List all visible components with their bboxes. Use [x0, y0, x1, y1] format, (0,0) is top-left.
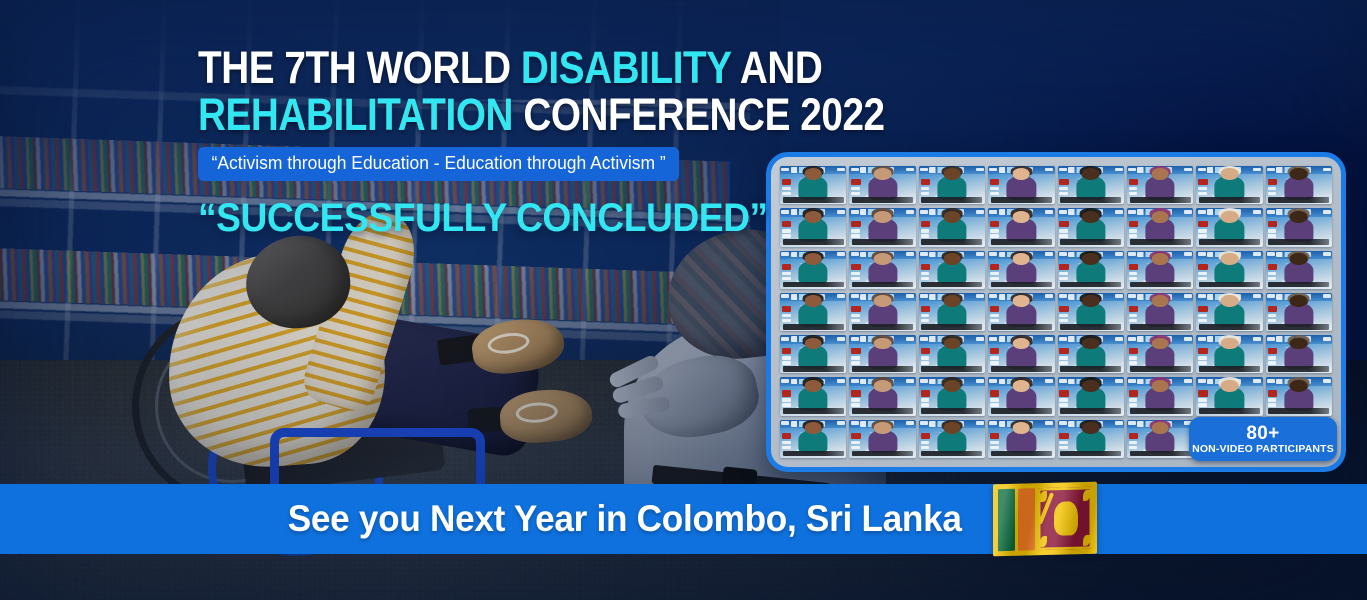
- camera-off-icon[interactable]: [1268, 264, 1277, 270]
- tile-control-icon[interactable]: [851, 272, 860, 275]
- tile-control-icon[interactable]: [1198, 272, 1207, 275]
- participant-tile[interactable]: [1127, 293, 1193, 331]
- participant-face: [1013, 253, 1031, 265]
- tile-badge-left: [1267, 379, 1275, 383]
- tile-control-icon[interactable]: [990, 272, 999, 275]
- participant-tile[interactable]: [988, 208, 1054, 246]
- tile-badge-right: [976, 379, 984, 383]
- tile-control-icon[interactable]: [1198, 234, 1207, 237]
- camera-off-icon[interactable]: [921, 390, 930, 396]
- tile-control-icon[interactable]: [1059, 441, 1068, 444]
- tile-control-icon[interactable]: [921, 314, 930, 317]
- tile-control-icon[interactable]: [1129, 314, 1138, 317]
- participant-face: [804, 295, 822, 307]
- flag-leaf: [1040, 536, 1047, 547]
- tile-control-icon[interactable]: [990, 319, 999, 322]
- tile-control-icon[interactable]: [921, 446, 930, 449]
- participant-face: [1082, 422, 1100, 434]
- participant-tile[interactable]: [919, 166, 985, 204]
- participant-face: [804, 168, 822, 180]
- participant-tile[interactable]: [988, 166, 1054, 204]
- participant-tile[interactable]: [919, 420, 985, 458]
- participant-avatar: [1215, 261, 1244, 285]
- participant-tile[interactable]: [1127, 208, 1193, 246]
- tile-badge-right: [1045, 421, 1053, 425]
- footer-banner: See you Next Year in Colombo, Sri Lanka: [0, 484, 1367, 554]
- tile-badge-left: [1059, 168, 1067, 172]
- camera-off-icon[interactable]: [1198, 264, 1207, 270]
- participant-tile[interactable]: [919, 335, 985, 373]
- participant-name-bar: [1199, 282, 1260, 288]
- participant-name-bar: [921, 366, 982, 372]
- tile-control-icon[interactable]: [1129, 229, 1138, 232]
- tile-control-icon[interactable]: [782, 446, 791, 449]
- camera-off-icon[interactable]: [1129, 221, 1138, 227]
- status-badge-concluded: “SUCCESSFULLY CONCLUDED”: [198, 197, 756, 239]
- camera-off-icon[interactable]: [782, 264, 791, 270]
- tile-control-icon[interactable]: [1268, 277, 1277, 280]
- participant-name-bar: [1130, 366, 1191, 372]
- tile-control-icon[interactable]: [921, 356, 930, 359]
- tile-control-icon[interactable]: [1059, 403, 1068, 406]
- participant-avatar: [1007, 261, 1036, 285]
- participant-tile[interactable]: [1058, 335, 1124, 373]
- tile-badge-left: [989, 294, 997, 298]
- participant-tile[interactable]: [1127, 335, 1193, 373]
- camera-off-icon[interactable]: [990, 306, 999, 312]
- camera-off-icon[interactable]: [1198, 221, 1207, 227]
- tile-badge-left: [851, 252, 859, 256]
- participant-tile[interactable]: [1196, 208, 1262, 246]
- participant-face: [1290, 168, 1308, 180]
- camera-off-icon[interactable]: [1268, 306, 1277, 312]
- camera-off-icon[interactable]: [1198, 306, 1207, 312]
- participant-name-bar: [991, 366, 1052, 372]
- tile-badge-right: [1323, 168, 1331, 172]
- tile-control-icon[interactable]: [921, 192, 930, 195]
- tile-control-icon[interactable]: [1059, 234, 1068, 237]
- participant-face: [874, 422, 892, 434]
- tile-control-icon[interactable]: [1129, 441, 1138, 444]
- tile-badge-left: [989, 379, 997, 383]
- tile-control-icon[interactable]: [782, 277, 791, 280]
- tile-badge-left: [851, 379, 859, 383]
- camera-off-icon[interactable]: [1198, 348, 1207, 354]
- tile-control-icon[interactable]: [851, 192, 860, 195]
- camera-off-icon[interactable]: [1059, 348, 1068, 354]
- camera-off-icon[interactable]: [851, 306, 860, 312]
- camera-off-icon[interactable]: [782, 390, 791, 396]
- participant-face: [1221, 168, 1239, 180]
- camera-off-icon[interactable]: [990, 433, 999, 439]
- participant-face: [804, 253, 822, 265]
- camera-off-icon[interactable]: [782, 306, 791, 312]
- tile-control-icon[interactable]: [851, 398, 860, 401]
- tile-control-icon[interactable]: [1268, 356, 1277, 359]
- tile-control-icon[interactable]: [1268, 361, 1277, 364]
- tile-control-icon[interactable]: [921, 234, 930, 237]
- participant-face: [1082, 338, 1100, 350]
- participant-face: [1290, 211, 1308, 223]
- participant-tile[interactable]: [849, 166, 915, 204]
- tile-control-icon[interactable]: [1198, 403, 1207, 406]
- tile-control-icon[interactable]: [990, 361, 999, 364]
- participant-avatar: [1076, 430, 1105, 454]
- participant-name-bar: [1199, 408, 1260, 414]
- participant-name-bar: [991, 282, 1052, 288]
- tile-control-icon[interactable]: [1129, 446, 1138, 449]
- participant-name-bar: [1060, 451, 1121, 457]
- participant-tile[interactable]: [1266, 293, 1332, 331]
- camera-off-icon[interactable]: [1198, 390, 1207, 396]
- camera-off-icon[interactable]: [782, 433, 791, 439]
- participant-name-bar: [852, 239, 913, 245]
- tile-control-icon[interactable]: [1268, 403, 1277, 406]
- tile-control-icon[interactable]: [782, 398, 791, 401]
- tile-control-icon[interactable]: [1129, 187, 1138, 190]
- tile-control-icon[interactable]: [1129, 192, 1138, 195]
- camera-off-icon[interactable]: [990, 221, 999, 227]
- tile-control-icon[interactable]: [1198, 356, 1207, 359]
- participant-face: [1013, 380, 1031, 392]
- participant-tile[interactable]: [1266, 208, 1332, 246]
- tile-control-icon[interactable]: [1268, 192, 1277, 195]
- camera-off-icon[interactable]: [782, 348, 791, 354]
- participant-name-bar: [852, 324, 913, 330]
- tile-control-icon[interactable]: [990, 229, 999, 232]
- participant-face: [1013, 168, 1031, 180]
- tile-control-icon[interactable]: [1268, 319, 1277, 322]
- tile-control-icon[interactable]: [1198, 277, 1207, 280]
- participant-face: [1221, 380, 1239, 392]
- tile-badge-left: [851, 168, 859, 172]
- tile-control-icon[interactable]: [1129, 361, 1138, 364]
- participant-tile[interactable]: [1058, 251, 1124, 289]
- tile-control-icon[interactable]: [990, 192, 999, 195]
- participant-face: [1013, 338, 1031, 350]
- tile-control-icon[interactable]: [921, 272, 930, 275]
- participant-tile[interactable]: [1058, 208, 1124, 246]
- participant-tile[interactable]: [1058, 166, 1124, 204]
- camera-off-icon[interactable]: [1129, 179, 1138, 185]
- camera-off-icon[interactable]: [851, 348, 860, 354]
- participant-tile[interactable]: [1196, 335, 1262, 373]
- camera-off-icon[interactable]: [1268, 348, 1277, 354]
- participant-face: [1221, 295, 1239, 307]
- participant-face: [1221, 338, 1239, 350]
- camera-off-icon[interactable]: [1129, 390, 1138, 396]
- tile-control-icon[interactable]: [1198, 361, 1207, 364]
- tile-control-icon[interactable]: [921, 403, 930, 406]
- participant-tile[interactable]: [1196, 166, 1262, 204]
- camera-off-icon[interactable]: [921, 433, 930, 439]
- tile-control-icon[interactable]: [1059, 272, 1068, 275]
- camera-off-icon[interactable]: [1129, 348, 1138, 354]
- participant-tile[interactable]: [919, 293, 985, 331]
- participant-name-bar: [783, 366, 844, 372]
- tile-control-icon[interactable]: [1129, 272, 1138, 275]
- tile-control-icon[interactable]: [782, 319, 791, 322]
- participant-tile[interactable]: [1266, 335, 1332, 373]
- participant-face: [804, 380, 822, 392]
- tile-control-icon[interactable]: [1129, 234, 1138, 237]
- tile-control-icon[interactable]: [990, 314, 999, 317]
- participant-name-bar: [783, 408, 844, 414]
- camera-off-icon[interactable]: [1268, 221, 1277, 227]
- participant-name-bar: [783, 282, 844, 288]
- tile-badge-right: [976, 210, 984, 214]
- title-line1-highlight: DISABILITY: [521, 42, 731, 93]
- tile-control-icon[interactable]: [1268, 229, 1277, 232]
- tile-control-icon[interactable]: [851, 356, 860, 359]
- tile-control-icon[interactable]: [782, 272, 791, 275]
- camera-off-icon[interactable]: [1059, 306, 1068, 312]
- camera-off-icon[interactable]: [921, 179, 930, 185]
- tile-control-icon[interactable]: [1059, 314, 1068, 317]
- participant-tile[interactable]: [1058, 420, 1124, 458]
- participant-face: [1013, 295, 1031, 307]
- participant-tile[interactable]: [1127, 166, 1193, 204]
- tile-control-icon[interactable]: [921, 441, 930, 444]
- camera-off-icon[interactable]: [1129, 433, 1138, 439]
- camera-off-icon[interactable]: [1059, 390, 1068, 396]
- tile-control-icon[interactable]: [1198, 192, 1207, 195]
- tile-control-icon[interactable]: [851, 361, 860, 364]
- participant-name-bar: [1268, 197, 1329, 203]
- camera-off-icon[interactable]: [1059, 179, 1068, 185]
- camera-off-icon[interactable]: [851, 179, 860, 185]
- flag-stripe-orange: [1018, 488, 1035, 550]
- tile-control-icon[interactable]: [851, 187, 860, 190]
- participant-tile[interactable]: [1058, 377, 1124, 415]
- tile-badge-left: [1059, 337, 1067, 341]
- camera-off-icon[interactable]: [851, 390, 860, 396]
- participant-face: [874, 380, 892, 392]
- tile-control-icon[interactable]: [851, 314, 860, 317]
- participant-tile[interactable]: [849, 293, 915, 331]
- tile-badge-right: [1253, 294, 1261, 298]
- participant-tile[interactable]: [849, 377, 915, 415]
- participant-tile[interactable]: [919, 251, 985, 289]
- tile-badge-left: [1267, 252, 1275, 256]
- tile-control-icon[interactable]: [782, 314, 791, 317]
- participant-face: [943, 338, 961, 350]
- tile-control-icon[interactable]: [1268, 187, 1277, 190]
- participant-tile[interactable]: [1127, 251, 1193, 289]
- tile-control-icon[interactable]: [921, 277, 930, 280]
- camera-off-icon[interactable]: [921, 264, 930, 270]
- camera-off-icon[interactable]: [1268, 179, 1277, 185]
- participant-tile[interactable]: [988, 377, 1054, 415]
- camera-off-icon[interactable]: [851, 264, 860, 270]
- camera-off-icon[interactable]: [1129, 306, 1138, 312]
- tile-control-icon[interactable]: [990, 403, 999, 406]
- participant-tile[interactable]: [849, 335, 915, 373]
- camera-off-icon[interactable]: [921, 348, 930, 354]
- participant-tile[interactable]: [1127, 377, 1193, 415]
- tile-control-icon[interactable]: [782, 356, 791, 359]
- tile-control-icon[interactable]: [1059, 277, 1068, 280]
- tile-control-icon[interactable]: [851, 229, 860, 232]
- participant-name-bar: [921, 282, 982, 288]
- conference-banner: THE 7TH WORLD DISABILITY AND REHABILITAT…: [0, 0, 1367, 600]
- participant-name-bar: [1268, 366, 1329, 372]
- tagline-pill: “Activism through Education - Education …: [198, 147, 679, 181]
- tile-badge-right: [976, 337, 984, 341]
- participant-face: [874, 338, 892, 350]
- participant-tile[interactable]: [1196, 293, 1262, 331]
- participant-tile[interactable]: [988, 293, 1054, 331]
- tile-control-icon[interactable]: [921, 398, 930, 401]
- camera-off-icon[interactable]: [990, 179, 999, 185]
- tile-badge-right: [1253, 210, 1261, 214]
- tile-control-icon[interactable]: [1268, 234, 1277, 237]
- tile-control-icon[interactable]: [990, 356, 999, 359]
- participant-tile[interactable]: [1266, 166, 1332, 204]
- participant-face: [1151, 380, 1169, 392]
- tile-control-icon[interactable]: [851, 441, 860, 444]
- tile-control-icon[interactable]: [1059, 192, 1068, 195]
- tile-badge-left: [1128, 210, 1136, 214]
- participant-tile[interactable]: [780, 335, 846, 373]
- tile-control-icon[interactable]: [990, 398, 999, 401]
- tile-badge-right: [1184, 337, 1192, 341]
- tile-control-icon[interactable]: [921, 187, 930, 190]
- camera-off-icon[interactable]: [1268, 390, 1277, 396]
- participant-tile[interactable]: [849, 420, 915, 458]
- tile-control-icon[interactable]: [921, 361, 930, 364]
- participant-grid: [780, 166, 1332, 458]
- camera-off-icon[interactable]: [1059, 221, 1068, 227]
- tile-control-icon[interactable]: [782, 361, 791, 364]
- tile-control-icon[interactable]: [921, 229, 930, 232]
- tile-badge-left: [920, 337, 928, 341]
- tile-control-icon[interactable]: [1198, 398, 1207, 401]
- participant-name-bar: [991, 239, 1052, 245]
- participant-tile[interactable]: [1058, 293, 1124, 331]
- tile-badge-left: [1128, 294, 1136, 298]
- tile-control-icon[interactable]: [1059, 187, 1068, 190]
- camera-off-icon[interactable]: [990, 390, 999, 396]
- participant-tile[interactable]: [780, 293, 846, 331]
- camera-off-icon[interactable]: [921, 221, 930, 227]
- camera-off-icon[interactable]: [921, 306, 930, 312]
- tile-control-icon[interactable]: [782, 403, 791, 406]
- participant-tile[interactable]: [988, 335, 1054, 373]
- tile-control-icon[interactable]: [1198, 314, 1207, 317]
- participant-tile[interactable]: [919, 208, 985, 246]
- participant-tile[interactable]: [1127, 420, 1193, 458]
- participant-avatar: [868, 261, 897, 285]
- tile-badge-right: [906, 252, 914, 256]
- participant-tile[interactable]: [1196, 377, 1262, 415]
- participant-tile[interactable]: [780, 251, 846, 289]
- participant-tile[interactable]: [849, 251, 915, 289]
- participant-tile[interactable]: [988, 420, 1054, 458]
- camera-off-icon[interactable]: [851, 221, 860, 227]
- participant-avatar: [937, 430, 966, 454]
- participant-tile[interactable]: [780, 377, 846, 415]
- camera-off-icon[interactable]: [1129, 264, 1138, 270]
- participant-face: [943, 380, 961, 392]
- tile-control-icon[interactable]: [851, 319, 860, 322]
- participant-tile[interactable]: [1266, 251, 1332, 289]
- tile-control-icon[interactable]: [1268, 314, 1277, 317]
- participant-name-bar: [991, 324, 1052, 330]
- tile-control-icon[interactable]: [1059, 446, 1068, 449]
- participant-avatar: [1284, 261, 1313, 285]
- tile-control-icon[interactable]: [1129, 356, 1138, 359]
- tile-control-icon[interactable]: [851, 446, 860, 449]
- tile-badge-left: [989, 168, 997, 172]
- tile-badge-right: [837, 379, 845, 383]
- tile-control-icon[interactable]: [1129, 277, 1138, 280]
- participant-face: [1151, 295, 1169, 307]
- camera-off-icon[interactable]: [851, 433, 860, 439]
- camera-off-icon[interactable]: [990, 264, 999, 270]
- camera-off-icon[interactable]: [990, 348, 999, 354]
- participant-tile[interactable]: [780, 420, 846, 458]
- tile-control-icon[interactable]: [1059, 361, 1068, 364]
- tile-badge-left: [1128, 252, 1136, 256]
- tile-control-icon[interactable]: [1198, 187, 1207, 190]
- tile-badge-left: [781, 337, 789, 341]
- camera-off-icon[interactable]: [1059, 433, 1068, 439]
- participant-name-bar: [852, 366, 913, 372]
- tile-control-icon[interactable]: [1129, 398, 1138, 401]
- tile-control-icon[interactable]: [990, 446, 999, 449]
- tile-control-icon[interactable]: [1198, 319, 1207, 322]
- participant-face: [1082, 211, 1100, 223]
- participant-tile[interactable]: [1196, 251, 1262, 289]
- tile-control-icon[interactable]: [851, 234, 860, 237]
- tile-badge-right: [1253, 379, 1261, 383]
- tile-control-icon[interactable]: [990, 441, 999, 444]
- tile-control-icon[interactable]: [1059, 356, 1068, 359]
- tile-badge-left: [1059, 210, 1067, 214]
- camera-off-icon[interactable]: [1198, 179, 1207, 185]
- tile-control-icon[interactable]: [851, 277, 860, 280]
- tile-control-icon[interactable]: [1129, 403, 1138, 406]
- tile-control-icon[interactable]: [990, 234, 999, 237]
- participant-tile[interactable]: [988, 251, 1054, 289]
- tile-control-icon[interactable]: [1059, 229, 1068, 232]
- participant-tile[interactable]: [849, 208, 915, 246]
- camera-off-icon[interactable]: [1059, 264, 1068, 270]
- participant-name-bar: [921, 408, 982, 414]
- tile-control-icon[interactable]: [1059, 319, 1068, 322]
- tile-control-icon[interactable]: [1059, 398, 1068, 401]
- participant-face: [943, 253, 961, 265]
- tile-control-icon[interactable]: [1268, 272, 1277, 275]
- participant-name-bar: [921, 324, 982, 330]
- tile-control-icon[interactable]: [990, 187, 999, 190]
- participant-tile[interactable]: [1266, 377, 1332, 415]
- tile-control-icon[interactable]: [1268, 398, 1277, 401]
- participant-name-bar: [1060, 408, 1121, 414]
- tile-control-icon[interactable]: [990, 277, 999, 280]
- tile-control-icon[interactable]: [921, 319, 930, 322]
- participant-name-bar: [1199, 239, 1260, 245]
- participant-face: [1151, 253, 1169, 265]
- tile-badge-right: [1045, 252, 1053, 256]
- participant-tile[interactable]: [919, 377, 985, 415]
- tile-control-icon[interactable]: [1198, 229, 1207, 232]
- tile-control-icon[interactable]: [782, 441, 791, 444]
- tile-control-icon[interactable]: [1129, 319, 1138, 322]
- tile-control-icon[interactable]: [851, 403, 860, 406]
- tile-badge-right: [1184, 379, 1192, 383]
